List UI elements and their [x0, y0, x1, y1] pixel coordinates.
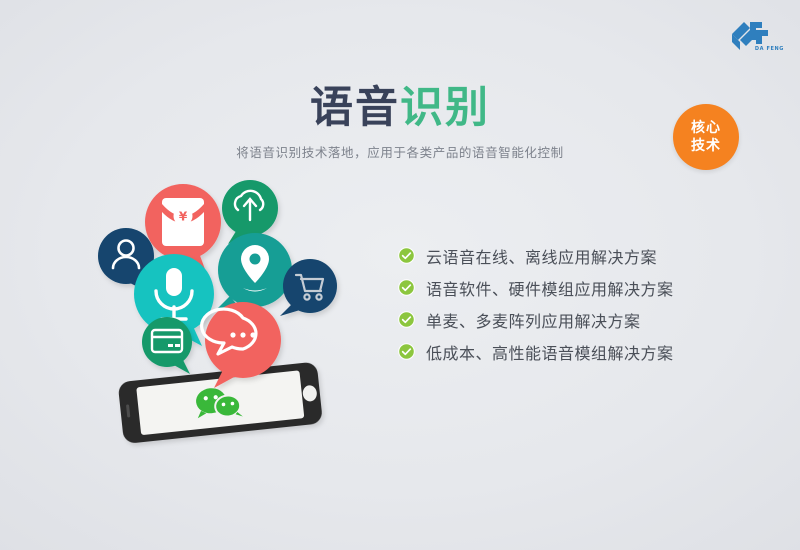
- core-technology-badge[interactable]: 核心 技术: [673, 104, 739, 170]
- smartphone: [118, 361, 323, 444]
- bubble-credit-card[interactable]: [142, 317, 192, 374]
- badge-line-1: 核心: [691, 119, 721, 137]
- check-circle-icon: [398, 343, 415, 360]
- list-item: 语音软件、硬件模组应用解决方案: [398, 272, 674, 303]
- list-item-label: 云语音在线、离线应用解决方案: [426, 244, 657, 268]
- logo-text: DA FENG: [755, 46, 784, 52]
- list-item-label: 低成本、高性能语音模组解决方案: [426, 340, 674, 364]
- red-envelope-icon: ¥: [162, 198, 204, 246]
- feature-list: 云语音在线、离线应用解决方案 语音软件、硬件模组应用解决方案 单麦、多麦阵列应用…: [398, 240, 674, 368]
- list-item: 单麦、多麦阵列应用解决方案: [398, 304, 674, 335]
- page-title-part2: 识别: [400, 83, 490, 133]
- list-item: 低成本、高性能语音模组解决方案: [398, 336, 674, 367]
- list-item: 云语音在线、离线应用解决方案: [398, 240, 674, 271]
- da-feng-logo[interactable]: DA FENG: [710, 10, 788, 54]
- check-circle-icon: [398, 247, 415, 264]
- bubble-location[interactable]: [214, 233, 292, 312]
- slide-root: DA FENG 语音识别 将语音识别技术落地，应用于各类产品的语音智能化控制 核…: [0, 0, 800, 550]
- speech-bubbles-illustration: ¥: [88, 160, 348, 440]
- badge-line-2: 技术: [691, 137, 721, 155]
- list-item-label: 语音软件、硬件模组应用解决方案: [426, 276, 674, 300]
- page-title-part1: 语音: [310, 83, 400, 133]
- check-circle-icon: [398, 279, 415, 296]
- check-circle-icon: [398, 311, 415, 328]
- svg-text:¥: ¥: [179, 210, 188, 224]
- list-item-label: 单麦、多麦阵列应用解决方案: [426, 308, 641, 332]
